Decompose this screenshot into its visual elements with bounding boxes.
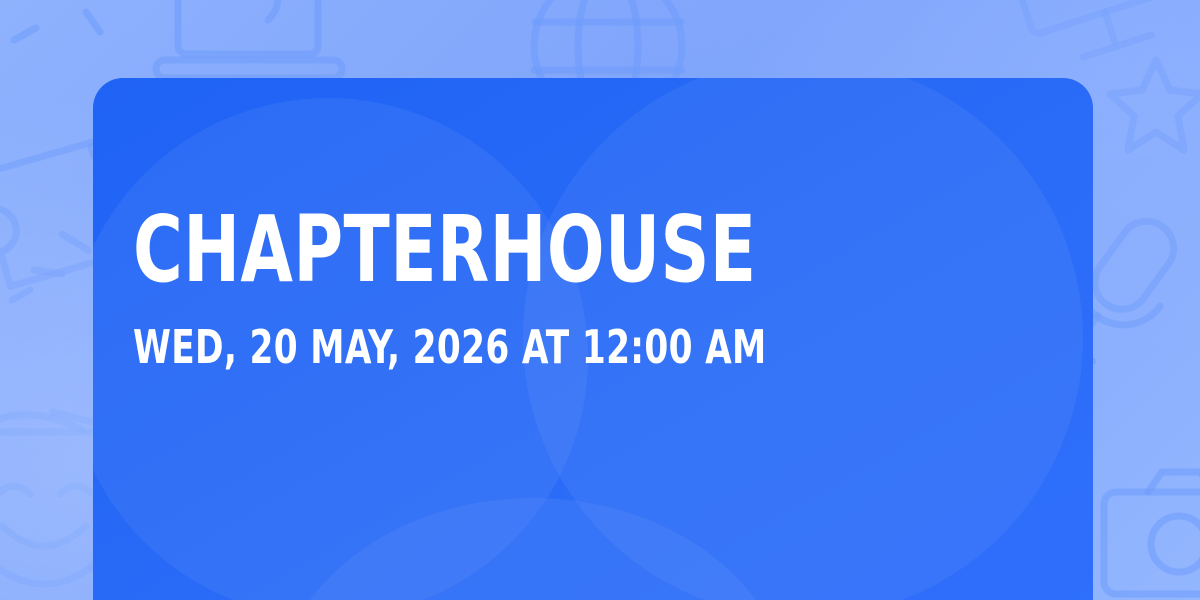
card-content: CHAPTERHOUSE WED, 20 MAY, 2026 AT 12:00 … — [133, 78, 1053, 600]
laptop-icon — [156, 0, 342, 78]
presentation-board-icon — [1004, 0, 1187, 70]
sparkle-icon — [12, 234, 88, 300]
event-title: CHAPTERHOUSE — [133, 206, 887, 294]
camera-icon — [1104, 472, 1200, 594]
sparkle-icon — [14, 12, 100, 40]
event-card-stage: CHAPTERHOUSE WED, 20 MAY, 2026 AT 12:00 … — [0, 0, 1200, 600]
event-datetime: WED, 20 MAY, 2026 AT 12:00 AM — [133, 324, 897, 370]
event-card[interactable]: CHAPTERHOUSE WED, 20 MAY, 2026 AT 12:00 … — [93, 78, 1093, 600]
star-icon — [1110, 60, 1200, 150]
